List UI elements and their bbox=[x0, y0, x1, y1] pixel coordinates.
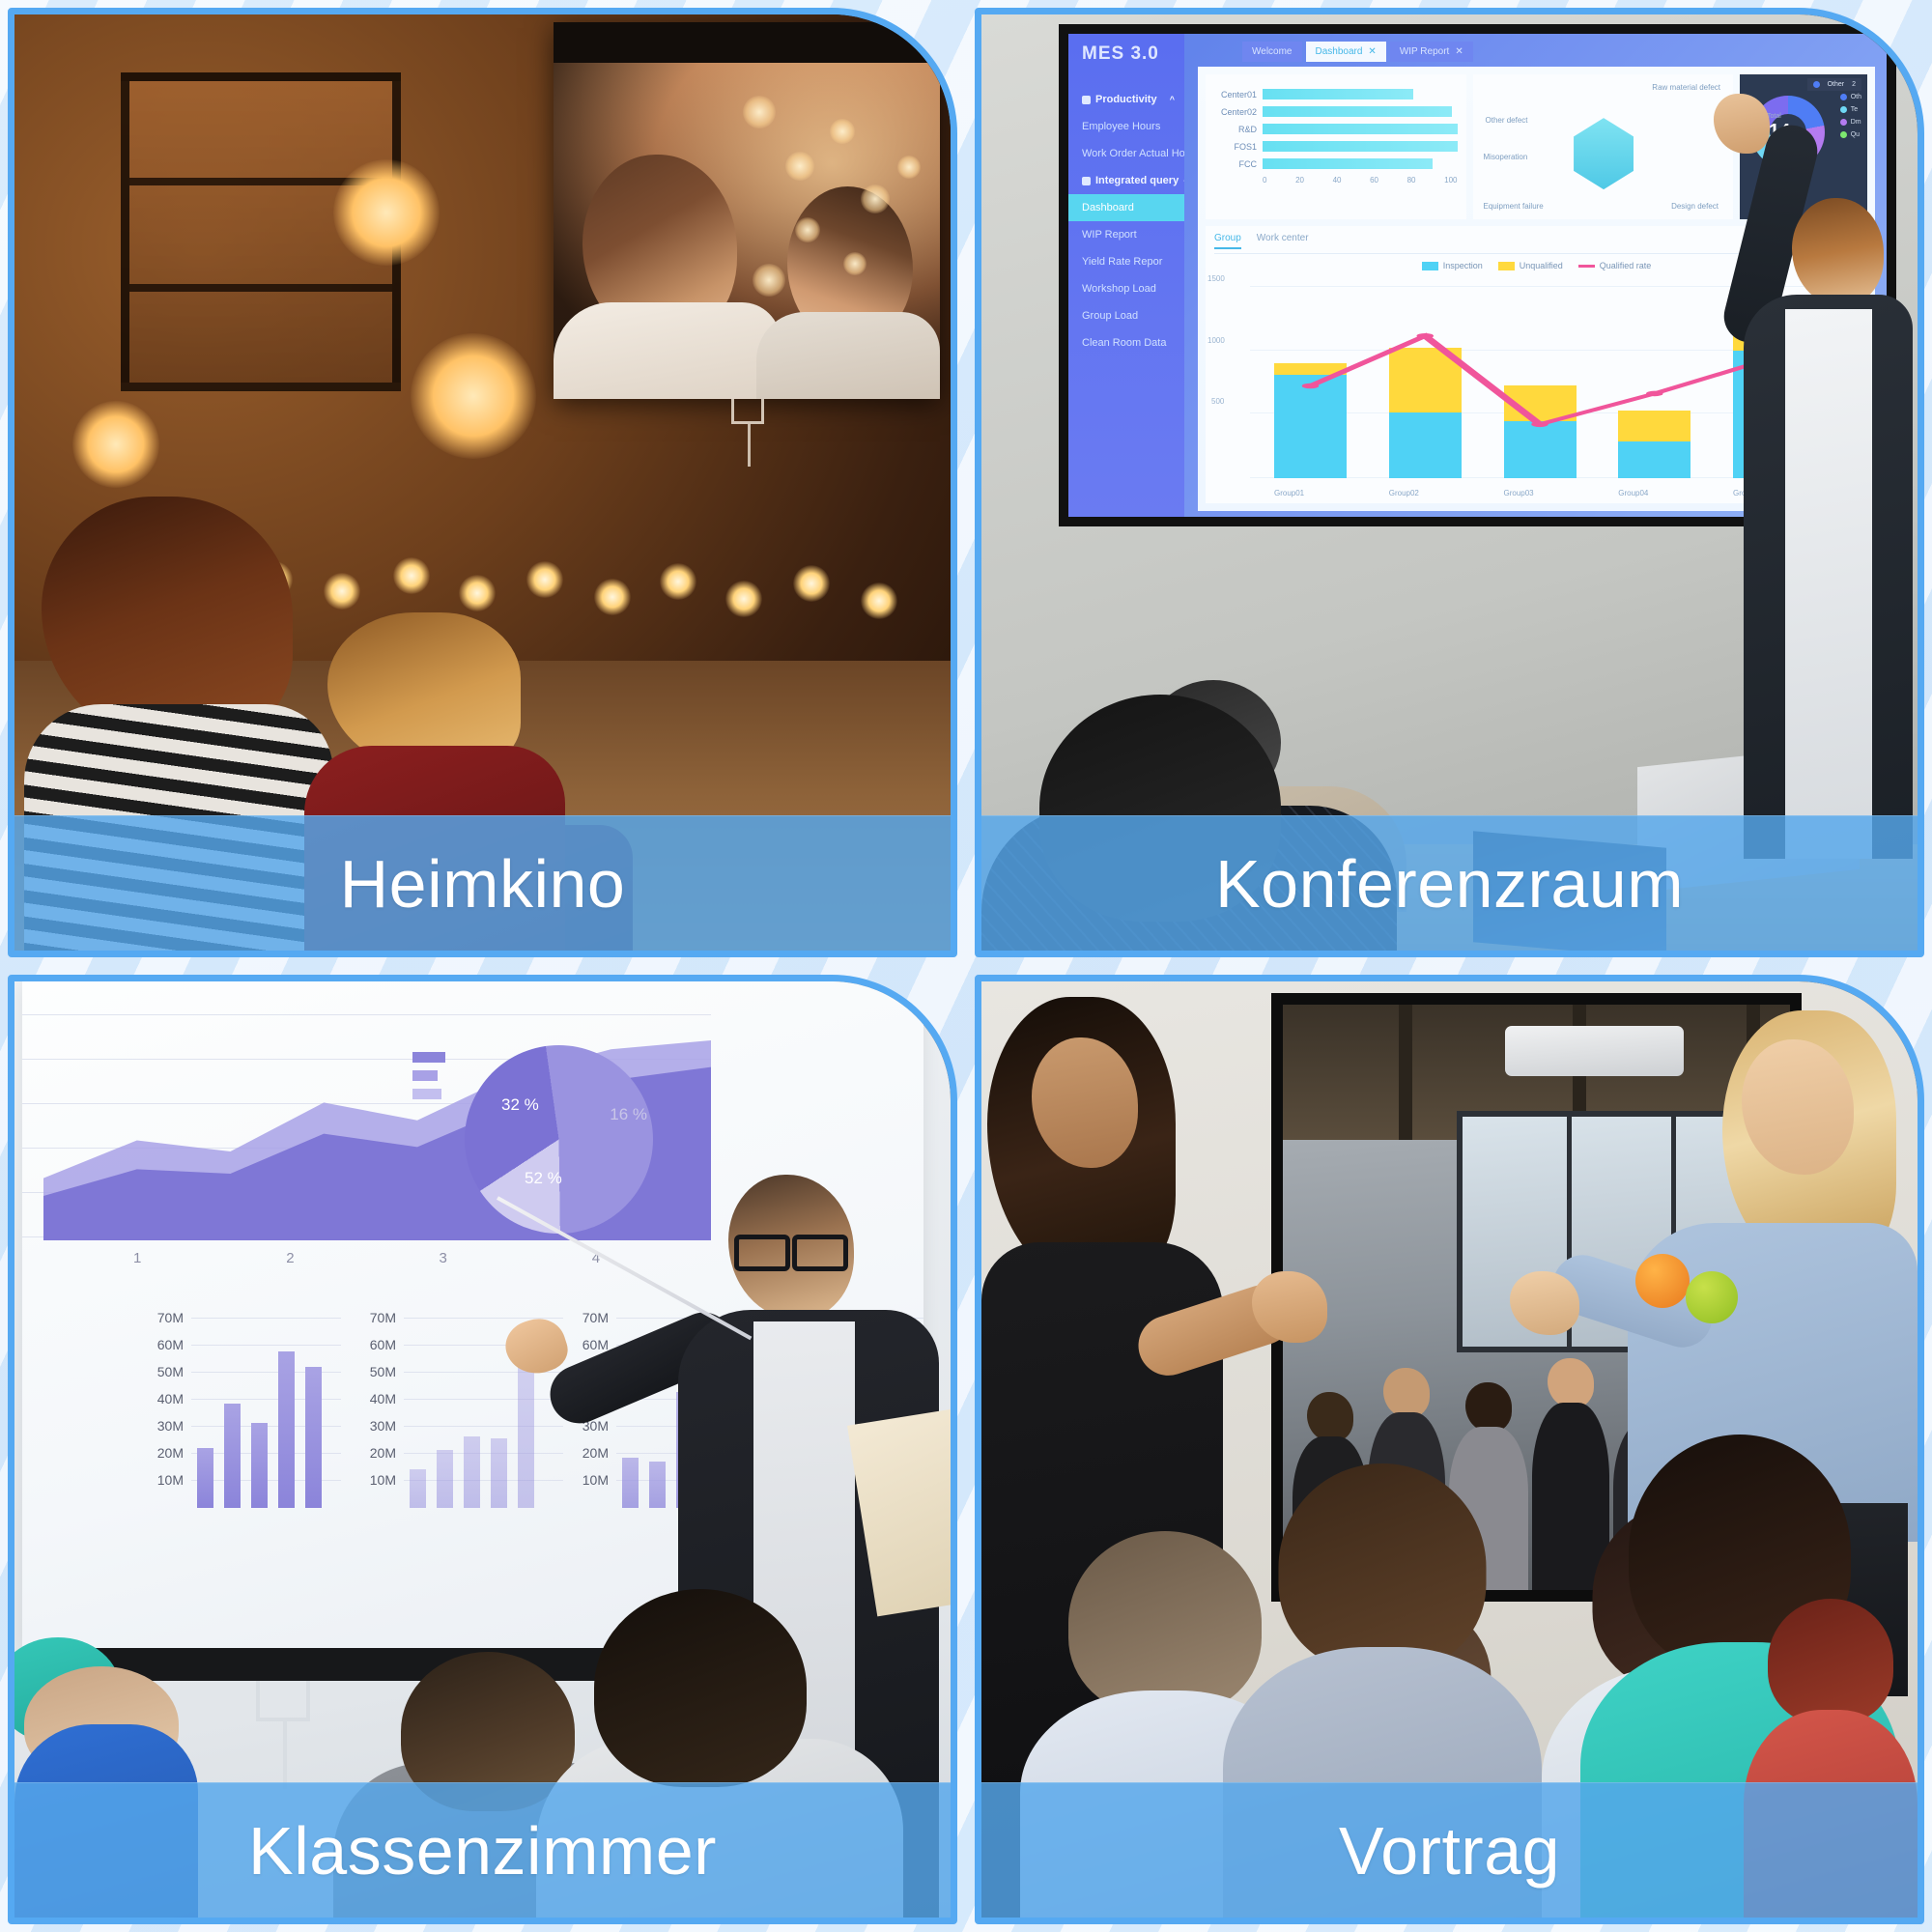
sidebar-label: Workshop Load bbox=[1082, 283, 1156, 295]
y-tick: 50M bbox=[370, 1364, 404, 1379]
sidebar-label: Clean Room Data bbox=[1082, 337, 1166, 349]
bar-row: R&D bbox=[1214, 124, 1458, 134]
legend-item: Oth bbox=[1840, 94, 1861, 100]
funnel-label: Misoperation bbox=[1484, 153, 1528, 161]
y-tick: 70M bbox=[157, 1310, 191, 1325]
tab-dashboard[interactable]: Dashboard ✕ bbox=[1306, 42, 1386, 62]
funnel-label: Design defect bbox=[1671, 202, 1719, 211]
legend-label: Inspection bbox=[1443, 261, 1483, 270]
tab-label: WIP Report bbox=[1400, 46, 1450, 57]
tooltip-name: Other bbox=[1828, 81, 1845, 88]
pie-slice-label: 16 % bbox=[610, 1105, 647, 1124]
legend-label: Oth bbox=[1851, 94, 1861, 100]
legend-dot-icon bbox=[1840, 131, 1847, 138]
bar-fill bbox=[1263, 106, 1452, 117]
bar-row: Center01 bbox=[1214, 89, 1458, 99]
app-brand: MES 3.0 bbox=[1068, 34, 1184, 65]
panel-lecture[interactable]: Vortrag bbox=[975, 975, 1924, 1924]
sidebar-item-yield-rate-report[interactable]: Yield Rate Repor bbox=[1068, 248, 1184, 275]
legend-item-unqualified: Unqualified bbox=[1498, 261, 1563, 270]
movie-woman-shirt bbox=[756, 312, 940, 399]
x-tick: Group02 bbox=[1389, 489, 1419, 497]
funnel-label: Raw material defect bbox=[1652, 83, 1720, 92]
legend-dot-icon bbox=[1813, 81, 1820, 88]
tab-welcome[interactable]: Welcome bbox=[1242, 42, 1302, 62]
funnel-label: Equipment failure bbox=[1484, 202, 1544, 211]
sidebar-label: Integrated query bbox=[1095, 175, 1179, 186]
x-tick: 1 bbox=[133, 1250, 141, 1266]
bokeh-light bbox=[861, 185, 890, 213]
bar-label: R&D bbox=[1214, 125, 1257, 134]
sidebar-item-dashboard[interactable]: Dashboard bbox=[1068, 194, 1184, 221]
legend-item-qualified-rate: Qualified rate bbox=[1578, 261, 1652, 270]
sidebar-item-employee-hours[interactable]: Employee Hours bbox=[1068, 113, 1184, 140]
movie-man-shirt bbox=[554, 302, 781, 399]
bar-fill bbox=[1263, 141, 1458, 152]
legend-dot-icon bbox=[1840, 119, 1847, 126]
tab-label: Dashboard bbox=[1316, 46, 1363, 57]
lecture-photo bbox=[981, 981, 1918, 1918]
horizontal-bar-chart: Center01 Center02 R&D bbox=[1206, 74, 1466, 219]
bar bbox=[622, 1458, 639, 1508]
bar-fill bbox=[1263, 89, 1413, 99]
legend-swatch-icon bbox=[1422, 262, 1438, 270]
sidebar-label: Productivity bbox=[1095, 94, 1157, 105]
bokeh-light bbox=[897, 156, 921, 179]
legend-dot-icon bbox=[1840, 106, 1847, 113]
y-tick: 10M bbox=[157, 1472, 191, 1488]
sidebar-label: WIP Report bbox=[1082, 229, 1137, 241]
close-icon[interactable]: ✕ bbox=[1455, 46, 1463, 57]
dashboard-sidebar[interactable]: MES 3.0 Productivity ^ Employee Hours bbox=[1068, 34, 1184, 517]
grid-icon bbox=[1082, 96, 1091, 104]
y-tick: 20M bbox=[370, 1445, 404, 1461]
panel-classroom[interactable]: 32 % 16 % 52 % 1 2 3 4 70M 60M 50M bbox=[8, 975, 957, 1924]
bar-fill bbox=[1263, 158, 1433, 169]
funnel-body: Raw material defect Other defect Misoper… bbox=[1482, 81, 1725, 213]
home-cinema-photo bbox=[14, 14, 951, 951]
mini-bar-chart-1: 70M 60M 50M 40M 30M 20M 10M bbox=[191, 1300, 341, 1508]
y-tick: 10M bbox=[370, 1472, 404, 1488]
bokeh-light bbox=[743, 96, 776, 128]
presenter-head bbox=[1792, 198, 1884, 306]
y-tick: 60M bbox=[157, 1337, 191, 1352]
panel-caption: Heimkino bbox=[14, 815, 951, 951]
y-tick: 1000 bbox=[1207, 336, 1225, 345]
tooltip-value: 2 bbox=[1852, 81, 1856, 88]
tab-label: Welcome bbox=[1252, 46, 1293, 57]
sidebar-item-group-load[interactable]: Group Load bbox=[1068, 302, 1184, 329]
bar bbox=[464, 1436, 480, 1508]
y-tick: 30M bbox=[370, 1418, 404, 1434]
y-tick: 40M bbox=[370, 1391, 404, 1406]
sidebar-label: Employee Hours bbox=[1082, 121, 1160, 132]
close-icon[interactable]: ✕ bbox=[1368, 46, 1376, 57]
orange-fruit bbox=[1635, 1254, 1690, 1308]
bar bbox=[224, 1404, 241, 1508]
bokeh-light bbox=[830, 119, 855, 144]
y-tick: 70M bbox=[582, 1310, 616, 1325]
y-tick: 20M bbox=[157, 1445, 191, 1461]
bokeh-light bbox=[785, 152, 814, 181]
chevron-up-icon: ^ bbox=[1170, 95, 1175, 104]
y-tick: 10M bbox=[582, 1472, 616, 1488]
panel-caption: Vortrag bbox=[981, 1782, 1918, 1918]
y-tick: 500 bbox=[1211, 397, 1224, 406]
funnel-shape bbox=[1574, 118, 1634, 189]
legend-label: Qu bbox=[1851, 131, 1860, 138]
green-apple bbox=[1686, 1271, 1738, 1323]
sidebar-item-wip-report[interactable]: WIP Report bbox=[1068, 221, 1184, 248]
presenter bbox=[1719, 140, 1913, 859]
x-tick: Group03 bbox=[1504, 489, 1534, 497]
y-tick: 1500 bbox=[1207, 274, 1225, 283]
legend-label: Qualified rate bbox=[1600, 261, 1652, 270]
y-tick: 50M bbox=[157, 1364, 191, 1379]
pie-slice-label: 52 % bbox=[525, 1169, 562, 1188]
legend-line-icon bbox=[1578, 265, 1595, 268]
legend-item-inspection: Inspection bbox=[1422, 261, 1483, 270]
x-tick: 2 bbox=[286, 1250, 294, 1266]
panel-caption: Konferenzraum bbox=[981, 815, 1918, 951]
bar-label: FCC bbox=[1214, 159, 1257, 169]
caption-label: Klassenzimmer bbox=[248, 1817, 717, 1885]
x-tick: 80 bbox=[1407, 176, 1416, 185]
bokeh-light bbox=[795, 217, 820, 242]
caption-label: Vortrag bbox=[1339, 1817, 1560, 1885]
defect-funnel-chart: Raw material defect Other defect Misoper… bbox=[1473, 74, 1734, 219]
student-hoodie-head bbox=[594, 1589, 807, 1787]
caption-label: Heimkino bbox=[340, 850, 626, 918]
sidebar-item-workshop-load[interactable]: Workshop Load bbox=[1068, 275, 1184, 302]
pie-chart: 32 % 16 % 52 % bbox=[465, 1045, 653, 1234]
pie-slice-label: 32 % bbox=[501, 1095, 539, 1115]
legend-item: Qu bbox=[1840, 131, 1861, 138]
tab-wip-report[interactable]: WIP Report ✕ bbox=[1390, 42, 1473, 62]
presenter-pointing-hand bbox=[1714, 94, 1770, 154]
x-tick: 3 bbox=[439, 1250, 446, 1266]
glasses-icon bbox=[734, 1235, 848, 1264]
subtab-group[interactable]: Group bbox=[1214, 233, 1241, 249]
legend-label: Te bbox=[1851, 106, 1858, 113]
screen-pull-handle bbox=[731, 399, 764, 424]
bar-label: FOS1 bbox=[1214, 142, 1257, 152]
donut-legend: Oth Te Dm bbox=[1840, 94, 1861, 138]
subtab-work-center[interactable]: Work center bbox=[1257, 233, 1309, 249]
bar bbox=[410, 1469, 426, 1508]
bar bbox=[437, 1450, 453, 1508]
panel-conference-room[interactable]: MES 3.0 Productivity ^ Employee Hours bbox=[975, 8, 1924, 957]
bar-row: FCC bbox=[1214, 158, 1458, 169]
sidebar-item-work-order-actual-hours[interactable]: Work Order Actual Hours bbox=[1068, 140, 1184, 167]
grid-icon bbox=[1082, 177, 1091, 185]
legend-item: Te bbox=[1840, 106, 1861, 113]
bar bbox=[278, 1351, 295, 1508]
bar bbox=[251, 1423, 268, 1508]
bar-row: Center02 bbox=[1214, 106, 1458, 117]
scenario-grid: Heimkino MES 3.0 Productivity ^ bbox=[0, 0, 1932, 1932]
bar-label: Center02 bbox=[1214, 107, 1257, 117]
sidebar-label: Work Order Actual Hours bbox=[1082, 148, 1184, 159]
legend-dot-icon bbox=[1840, 94, 1847, 100]
x-axis-ticks: 0 20 40 60 80 100 bbox=[1214, 169, 1458, 185]
bar bbox=[491, 1438, 507, 1508]
sidebar-group-integrated-query[interactable]: Integrated query ^ bbox=[1068, 167, 1184, 194]
caption-label: Konferenzraum bbox=[1215, 850, 1684, 918]
y-tick: 60M bbox=[370, 1337, 404, 1352]
x-tick: Group01 bbox=[1274, 489, 1304, 497]
panel-caption: Klassenzimmer bbox=[14, 1782, 951, 1918]
sidebar-item-clean-room-data[interactable]: Clean Room Data bbox=[1068, 329, 1184, 356]
bar bbox=[305, 1367, 322, 1508]
bar-list: Center01 Center02 R&D bbox=[1214, 81, 1458, 169]
donut-tooltip: Other 2 bbox=[1807, 78, 1861, 91]
legend-item: Dm bbox=[1840, 119, 1861, 126]
legend-label: Unqualified bbox=[1520, 261, 1563, 270]
funnel-label: Other defect bbox=[1486, 116, 1528, 125]
sidebar-menu[interactable]: Productivity ^ Employee Hours Work Order… bbox=[1068, 86, 1184, 356]
y-tick: 70M bbox=[370, 1310, 404, 1325]
legend-swatch-icon bbox=[1498, 262, 1515, 270]
bar-label: Center01 bbox=[1214, 90, 1257, 99]
bokeh-light bbox=[843, 252, 867, 275]
lamp-glow bbox=[411, 333, 536, 459]
area-chart: 32 % 16 % 52 % bbox=[22, 999, 711, 1240]
y-tick: 40M bbox=[157, 1391, 191, 1406]
projection-screen bbox=[554, 22, 940, 399]
bar bbox=[197, 1448, 213, 1508]
bokeh-light bbox=[753, 264, 785, 297]
sidebar-label: Group Load bbox=[1082, 310, 1138, 322]
presenter-shirt bbox=[1785, 309, 1872, 859]
x-tick: 60 bbox=[1370, 176, 1378, 185]
classroom-photo: 32 % 16 % 52 % 1 2 3 4 70M 60M 50M bbox=[14, 981, 951, 1918]
lamp-glow bbox=[333, 159, 440, 266]
bar-fill bbox=[1263, 124, 1458, 134]
x-tick: Group04 bbox=[1618, 489, 1648, 497]
lamp-glow bbox=[72, 401, 159, 488]
sidebar-label: Yield Rate Repor bbox=[1082, 256, 1162, 268]
x-tick: 100 bbox=[1444, 176, 1457, 185]
legend-bars bbox=[412, 1052, 445, 1099]
sidebar-group-productivity[interactable]: Productivity ^ bbox=[1068, 86, 1184, 113]
legend-label: Dm bbox=[1851, 119, 1861, 126]
x-tick: 40 bbox=[1333, 176, 1342, 185]
x-tick: 20 bbox=[1295, 176, 1304, 185]
y-tick: 30M bbox=[157, 1418, 191, 1434]
panel-home-cinema[interactable]: Heimkino bbox=[8, 8, 957, 957]
area-chart-x-axis: 1 2 3 4 bbox=[61, 1250, 672, 1266]
sidebar-label: Dashboard bbox=[1082, 202, 1134, 213]
tab-bar[interactable]: Welcome Dashboard ✕ WIP Report ✕ bbox=[1184, 34, 1887, 62]
x-tick: 0 bbox=[1263, 176, 1266, 185]
y-tick: 20M bbox=[582, 1445, 616, 1461]
movie-frame bbox=[554, 63, 940, 399]
bar-row: FOS1 bbox=[1214, 141, 1458, 152]
conference-room-photo: MES 3.0 Productivity ^ Employee Hours bbox=[981, 14, 1918, 951]
